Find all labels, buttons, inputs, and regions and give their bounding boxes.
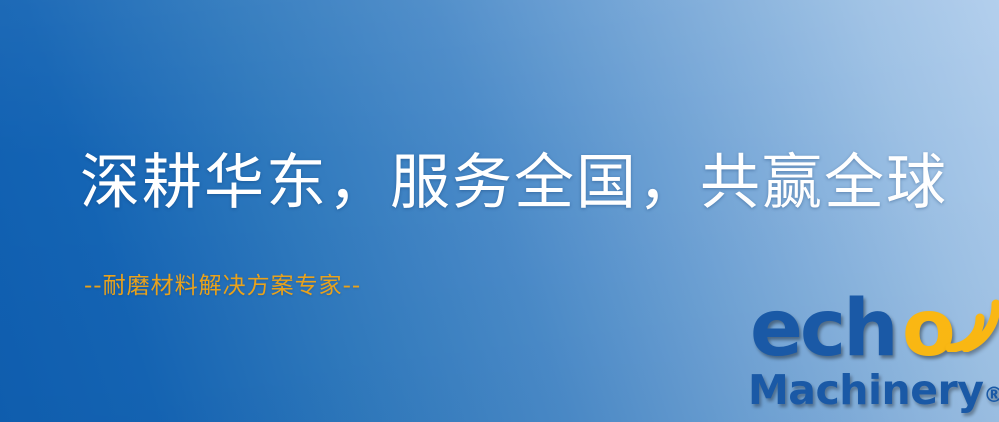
promo-banner: 深耕华东，服务全国，共赢全球 --耐磨材料解决方案专家-- ech o Mach… bbox=[0, 0, 999, 422]
echo-machinery-logo[interactable]: ech o Machinery® bbox=[748, 296, 999, 422]
logo-tagline-text: Machinery bbox=[748, 366, 983, 414]
echo-wave-icon bbox=[944, 294, 999, 352]
logo-wordmark: ech o bbox=[748, 296, 999, 370]
registered-trademark-icon: ® bbox=[983, 383, 999, 407]
logo-tagline: Machinery® bbox=[748, 370, 999, 411]
logo-wordmark-text: ech bbox=[750, 290, 896, 368]
banner-subtitle: --耐磨材料解决方案专家-- bbox=[84, 266, 361, 300]
banner-headline: 深耕华东，服务全国，共赢全球 bbox=[80, 152, 948, 215]
